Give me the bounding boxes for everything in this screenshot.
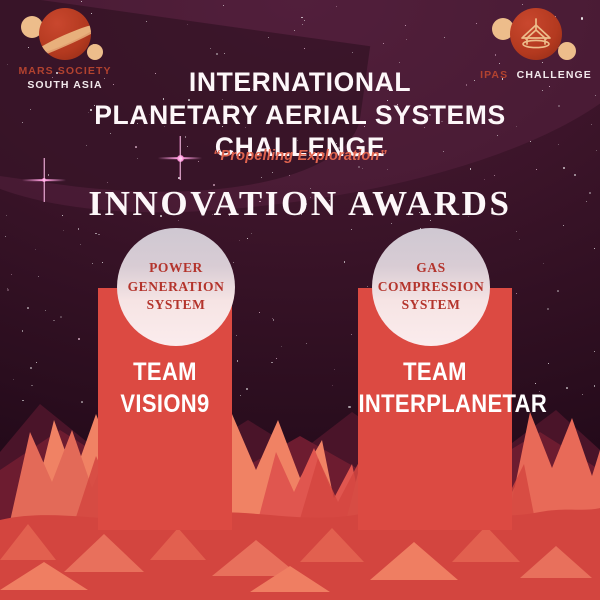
tagline: “Propelling Exploration”	[0, 148, 600, 164]
team-line-1: TEAM	[358, 356, 511, 388]
system-line-3: SYSTEM	[365, 296, 497, 315]
team-label-interplanetar: TEAM INTERPLANETAR	[358, 356, 511, 420]
team-label-vision9: TEAM VISION9	[101, 356, 229, 420]
planet-body-icon	[510, 8, 562, 60]
system-label-power-generation: POWER GENERATION SYSTEM	[110, 259, 242, 315]
aerial-drone-icon	[516, 17, 556, 51]
moon-small-icon	[558, 42, 576, 60]
planet-body-icon	[39, 8, 91, 60]
mars-planet-icon	[6, 4, 124, 66]
ipas-planet-icon	[476, 4, 596, 66]
system-line-2: GENERATION	[110, 278, 242, 297]
title-line-2: PLANETARY AERIAL SYSTEMS	[0, 99, 600, 132]
team-line-1: TEAM	[101, 356, 229, 388]
innovation-awards-poster: MARS SOCIETY SOUTH ASIA	[0, 0, 600, 600]
system-line-1: POWER	[110, 259, 242, 278]
system-label-gas-compression: GAS COMPRESSION SYSTEM	[365, 259, 497, 315]
team-line-2: INTERPLANETAR	[358, 388, 511, 420]
system-line-1: GAS	[365, 259, 497, 278]
moon-small-icon	[87, 44, 103, 60]
title-line-1: INTERNATIONAL	[0, 66, 600, 99]
system-line-3: SYSTEM	[110, 296, 242, 315]
team-line-2: VISION9	[101, 388, 229, 420]
section-heading: INNOVATION AWARDS	[0, 184, 600, 224]
system-line-2: COMPRESSION	[365, 278, 497, 297]
